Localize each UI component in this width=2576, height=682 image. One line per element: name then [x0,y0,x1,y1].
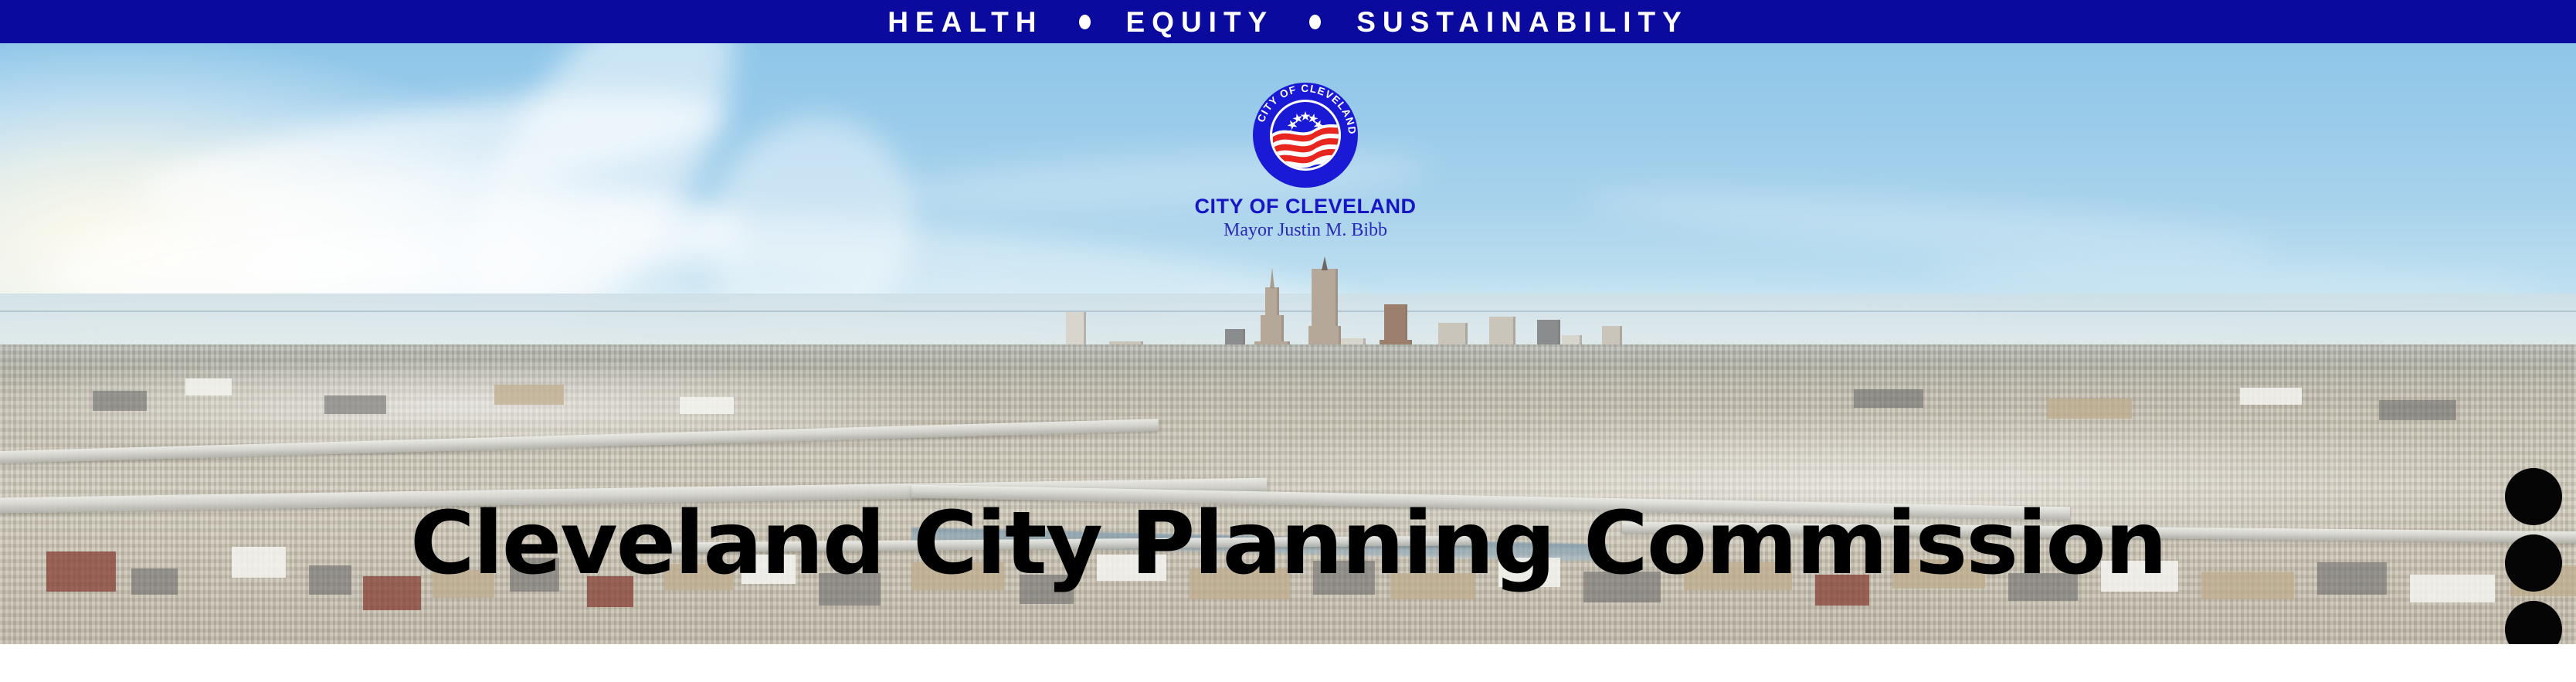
mayor-name-label: Mayor Justin M. Bibb [1159,220,1452,240]
city-name-label: CITY OF CLEVELAND [1159,195,1452,217]
bottom-white-strip [0,644,2576,682]
social-link-youtube[interactable] [2505,468,2562,525]
city-of-cleveland-seal-icon: CITY OF CLEVELAND OHIO [1251,81,1359,189]
tagline-banner: HEALTH EQUITY SUSTAINABILITY [0,0,2576,43]
tagline-word-health: HEALTH [888,8,1043,36]
cleveland-city-planning-header: HEALTH EQUITY SUSTAINABILITY [0,0,2576,682]
social-links [2503,468,2564,644]
tagline-inner: HEALTH EQUITY SUSTAINABILITY [888,8,1688,36]
social-link-facebook[interactable] [2505,601,2562,644]
bullet-dot-icon [1079,15,1091,29]
tagline-word-sustainability: SUSTAINABILITY [1356,8,1688,36]
tagline-word-equity: EQUITY [1126,8,1274,36]
social-link-instagram[interactable] [2505,534,2562,592]
hero-photo: CITY OF CLEVELAND OHIO [0,39,2576,644]
bullet-dot-icon [1309,15,1321,29]
page-title: Cleveland City Planning Commission [0,500,2576,587]
city-branding-block: CITY OF CLEVELAND OHIO [1159,81,1452,241]
